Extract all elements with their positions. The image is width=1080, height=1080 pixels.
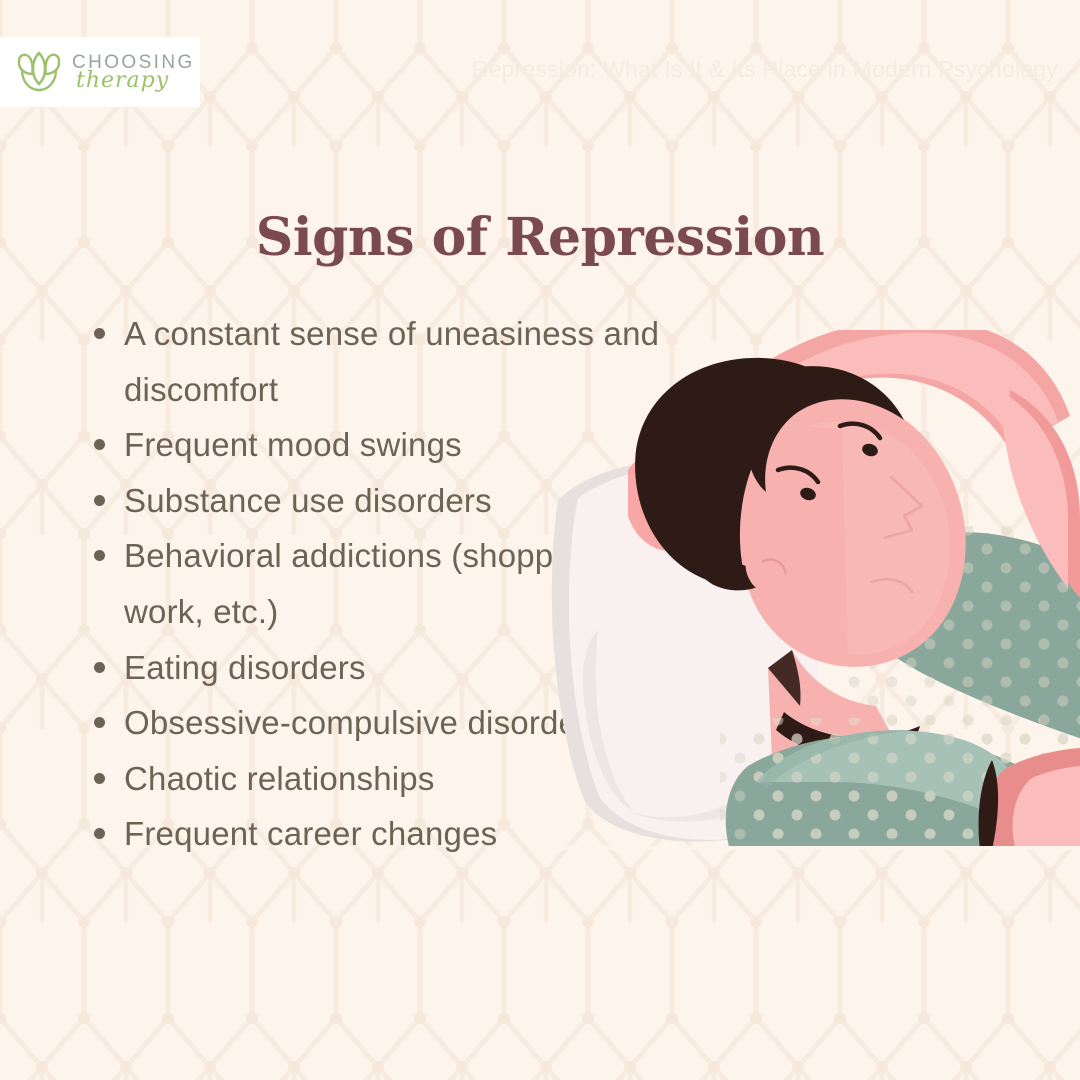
lotus-flower-icon xyxy=(16,51,62,93)
list-item-label: Obsessive-compulsive disorder xyxy=(124,704,588,741)
list-item-label: Frequent mood swings xyxy=(124,426,462,463)
article-strapline: Repression: What Is It & Its Place in Mo… xyxy=(472,56,1058,83)
choosing-therapy-logo[interactable]: CHOOSING therapy xyxy=(0,37,200,107)
list-item-label: Frequent career changes xyxy=(124,815,497,852)
bullet-dot-icon xyxy=(94,439,105,450)
logo-wordmark: CHOOSING therapy xyxy=(72,53,195,92)
bullet-dot-icon xyxy=(94,495,105,506)
list-item-label: Substance use disorders xyxy=(124,482,492,519)
bullet-dot-icon xyxy=(94,662,105,673)
page-title: Signs of Repression xyxy=(0,207,1080,268)
list-item-label: Chaotic relationships xyxy=(124,760,435,797)
list-item-label: Eating disorders xyxy=(124,649,366,686)
bullet-dot-icon xyxy=(94,773,105,784)
logo-word-therapy: therapy xyxy=(76,70,195,92)
bullet-dot-icon xyxy=(94,550,105,561)
bullet-dot-icon xyxy=(94,717,105,728)
bullet-dot-icon xyxy=(94,828,105,839)
bullet-dot-icon xyxy=(94,328,105,339)
infographic-page: CHOOSING therapy Repression: What Is It … xyxy=(0,0,1080,1080)
person-lying-on-pillow-illustration xyxy=(540,330,1080,850)
